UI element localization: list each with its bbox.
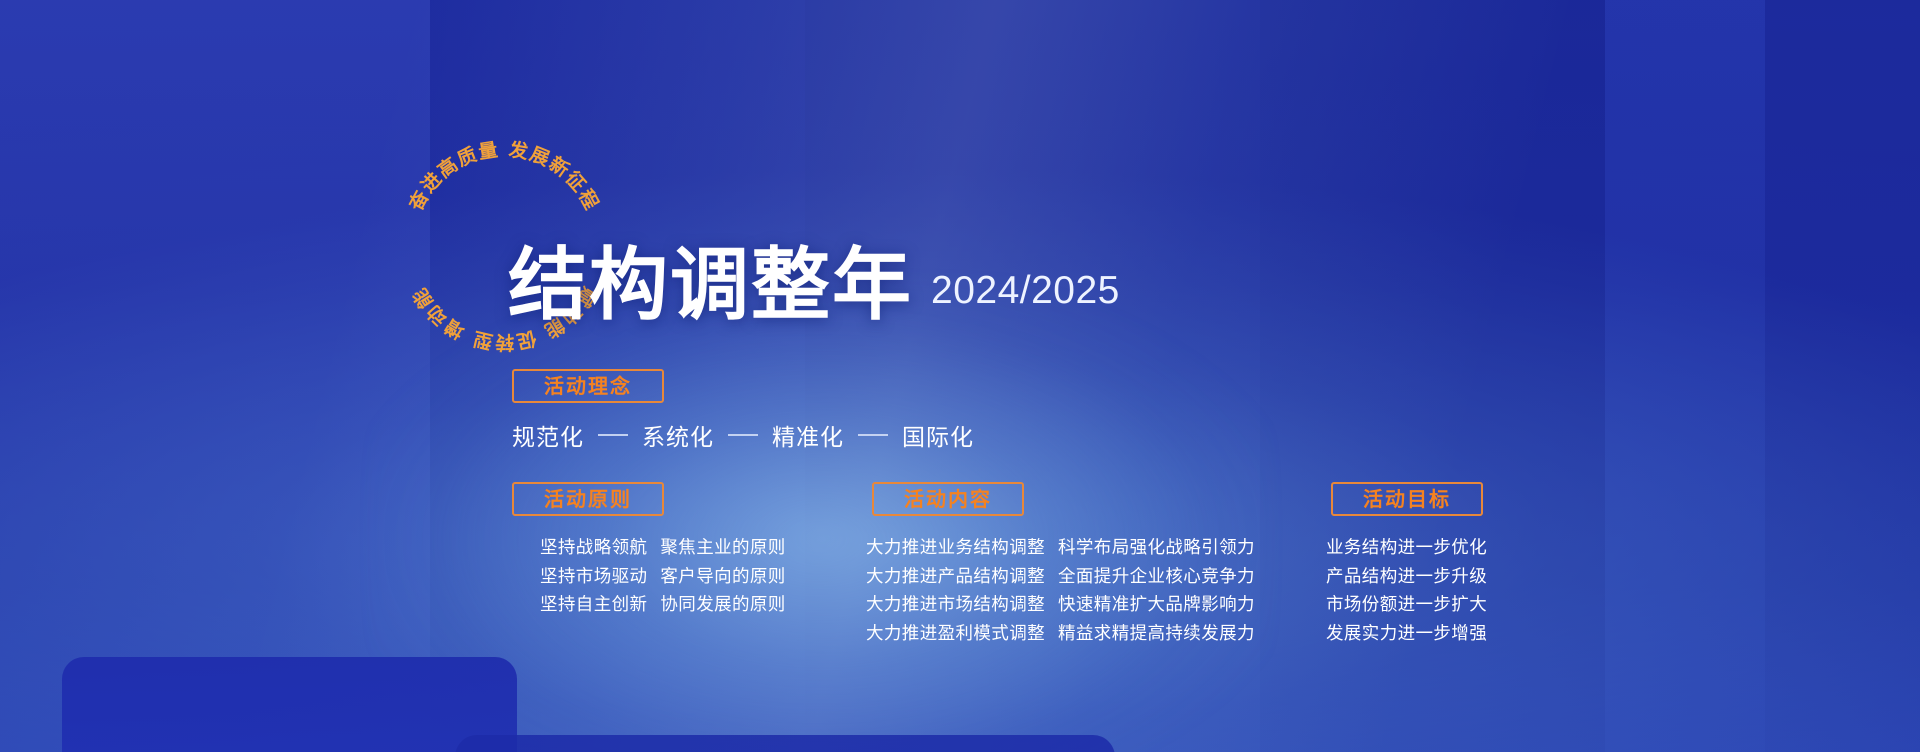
section-row: 坚持市场驱动 客户导向的原则	[540, 563, 786, 592]
page-title: 结构调整年	[508, 248, 913, 323]
row-left: 坚持自主创新	[540, 591, 647, 620]
row-right: 协同发展的原则	[660, 591, 785, 620]
decor-plate-center	[455, 735, 1115, 752]
section-row: 坚持战略领航 聚焦主业的原则	[540, 534, 786, 563]
row-left: 坚持市场驱动	[540, 563, 647, 592]
row-left: 业务结构进一步优化	[1326, 534, 1487, 563]
row-right: 客户导向的原则	[660, 563, 785, 592]
chip-activity-principles: 活动原则	[512, 482, 664, 516]
concept-list: 规范化 系统化 精准化 国际化	[512, 418, 974, 452]
band-6	[1765, 0, 1920, 752]
chip-activity-goals: 活动目标	[1331, 482, 1483, 516]
section-row: 市场份额进一步扩大	[1326, 591, 1487, 620]
section-row: 业务结构进一步优化	[1326, 534, 1487, 563]
row-right: 科学布局强化战略引领力	[1058, 534, 1255, 563]
chip-activity-concept: 活动理念	[512, 369, 664, 403]
section-activity-goals: 业务结构进一步优化 产品结构进一步升级 市场份额进一步扩大 发展实力进一步增强	[1326, 534, 1487, 648]
row-left: 大力推进业务结构调整	[866, 534, 1045, 563]
row-right: 全面提升企业核心竞争力	[1058, 563, 1255, 592]
row-right: 快速精准扩大品牌影响力	[1058, 591, 1255, 620]
row-left: 大力推进盈利模式调整	[866, 620, 1045, 649]
concept-divider-2	[858, 434, 888, 436]
row-left: 市场份额进一步扩大	[1326, 591, 1487, 620]
hero-year: 2024/2025	[931, 269, 1120, 313]
chip-activity-goals-label: 活动目标	[1363, 489, 1451, 509]
section-row: 大力推进产品结构调整 全面提升企业核心竞争力	[866, 563, 1255, 592]
section-row: 大力推进业务结构调整 科学布局强化战略引领力	[866, 534, 1255, 563]
chip-activity-concept-label: 活动理念	[544, 376, 632, 396]
row-left: 大力推进产品结构调整	[866, 563, 1045, 592]
section-row: 大力推进市场结构调整 快速精准扩大品牌影响力	[866, 591, 1255, 620]
decor-plate-left	[62, 657, 517, 752]
band-5	[1605, 0, 1765, 752]
row-left: 产品结构进一步升级	[1326, 563, 1487, 592]
chip-activity-content-label: 活动内容	[904, 489, 992, 509]
concept-item-0: 规范化	[512, 418, 584, 452]
concept-item-1: 系统化	[642, 418, 714, 452]
hero-title-row: 结构调整年 2024/2025	[508, 248, 1120, 323]
chip-activity-content: 活动内容	[872, 482, 1024, 516]
concept-item-3: 国际化	[902, 418, 974, 452]
section-row: 发展实力进一步增强	[1326, 620, 1487, 649]
concept-item-2: 精准化	[772, 418, 844, 452]
section-activity-principles: 坚持战略领航 聚焦主业的原则 坚持市场驱动 客户导向的原则 坚持自主创新 协同发…	[540, 534, 786, 620]
row-left: 坚持战略领航	[540, 534, 647, 563]
concept-divider-1	[728, 434, 758, 436]
section-row: 坚持自主创新 协同发展的原则	[540, 591, 786, 620]
row-right: 聚焦主业的原则	[660, 534, 785, 563]
row-right: 精益求精提高持续发展力	[1058, 620, 1255, 649]
concept-divider-0	[598, 434, 628, 436]
chip-activity-principles-label: 活动原则	[544, 489, 632, 509]
row-left: 发展实力进一步增强	[1326, 620, 1487, 649]
section-row: 产品结构进一步升级	[1326, 563, 1487, 592]
banner-stage: 奋进高质量 发展新征程 赋动能 促转型 增动能 结构调整年 2024/2025 …	[0, 0, 1920, 752]
row-left: 大力推进市场结构调整	[866, 591, 1045, 620]
band-1	[0, 0, 430, 752]
section-row: 大力推进盈利模式调整 精益求精提高持续发展力	[866, 620, 1255, 649]
emblem-top-text: 奋进高质量 发展新征程	[404, 138, 603, 216]
section-activity-content: 大力推进业务结构调整 科学布局强化战略引领力 大力推进产品结构调整 全面提升企业…	[866, 534, 1255, 648]
